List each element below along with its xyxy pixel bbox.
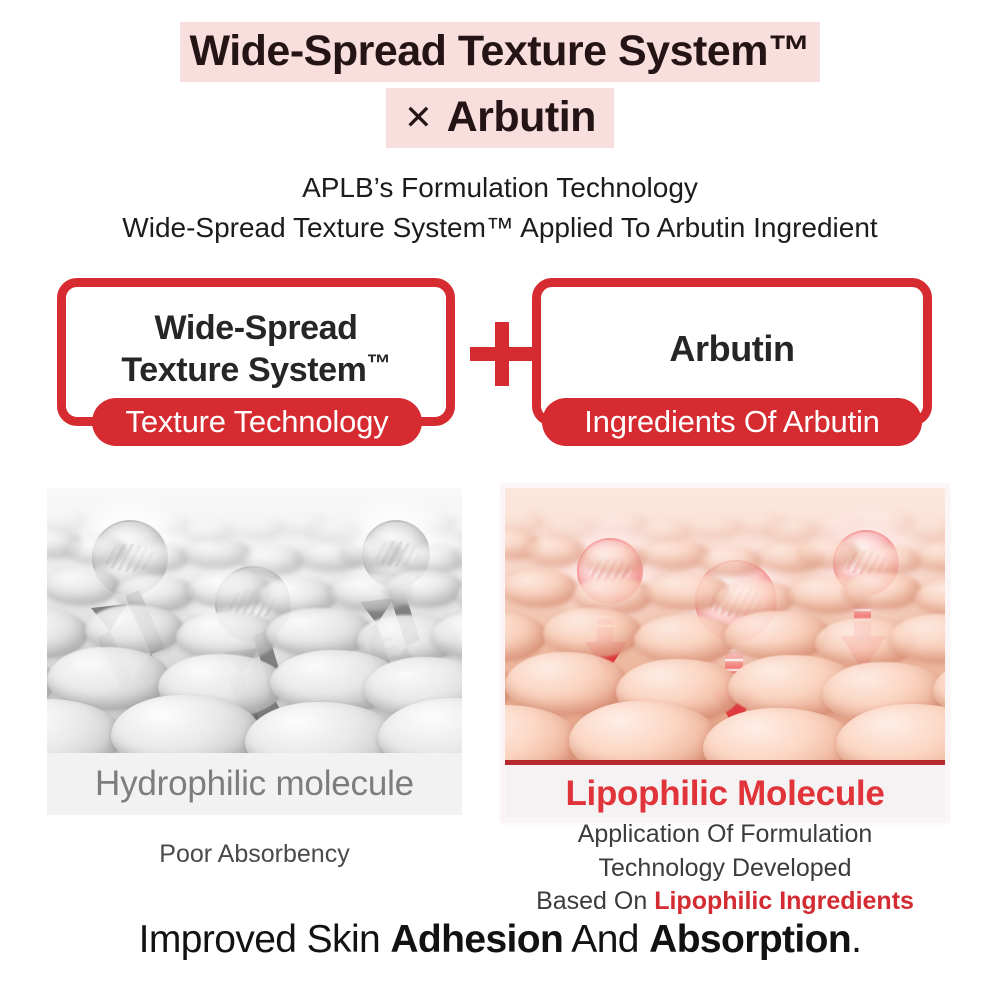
page-title-primary: Wide-Spread Texture System™ [180,22,821,82]
footer-part-3: . [851,918,861,961]
panel-lipophilic-caption: Lipophilic Molecule [505,760,945,818]
skin-cell [543,608,641,657]
title-block: Wide-Spread Texture System™ ✕Arbutin [0,22,1000,148]
panel-hydrophilic-frame: Hydrophilic molecule [47,488,462,815]
panel-lipophilic-note-line3: Based On Lipophilic Ingredients [505,885,945,919]
skin-cell [856,546,922,575]
skin-cell [47,568,119,605]
badge-arbutin-title: Arbutin [541,327,923,372]
panel-lipophilic-note: Application Of Formulation Technology De… [505,818,945,919]
footer-bold-absorption: Absorption [649,918,851,961]
badge-texture-system-title-line2: Texture System™ [66,349,446,391]
skin-cell [634,615,736,664]
scene-hydrophilic-illustration [47,488,462,753]
panel-lipophilic-note-line1: Application Of Formulation [505,818,945,852]
subtitle-block: APLB’s Formulation Technology Wide-Sprea… [0,168,1000,248]
footer-bold-adhesion: Adhesion [390,918,563,961]
skin-cell [724,611,830,660]
badge-texture-system-title: Wide-Spread Texture System™ [66,307,446,391]
skin-cell [525,537,585,566]
panel-lipophilic-frame: Lipophilic Molecule [505,488,945,818]
skin-cell [67,536,127,565]
page-title-secondary: ✕Arbutin [386,88,614,148]
skin-cell [688,516,743,539]
skin-cell [125,543,189,572]
skin-cell [505,570,577,607]
title-line-2-row: ✕Arbutin [0,88,1000,148]
subtitle-line-2: Wide-Spread Texture System™ Applied To A… [0,208,1000,248]
skin-cell-field-pink [505,488,945,760]
panel-lipophilic: Lipophilic Molecule [505,488,945,818]
skin-cell [187,571,271,608]
panel-hydrophilic-note: Poor Absorbency [47,838,462,871]
panel-hydrophilic-caption: Hydrophilic molecule [47,753,462,815]
footer-tagline: Improved Skin Adhesion And Absorption. [0,918,1000,962]
skin-cell [308,519,362,542]
skin-cell [230,516,285,539]
lipophilic-highlight: Lipophilic Ingredients [654,887,914,915]
footer-part-2: And [563,918,649,961]
multiply-icon: ✕ [404,99,447,137]
skin-cell [798,539,860,568]
badge-row: Wide-Spread Texture System™ Texture Tech… [0,278,1000,464]
skin-cell [645,573,729,610]
plus-icon [470,322,534,386]
trademark-icon: ™ [367,351,391,378]
skin-cell [843,572,921,609]
badge-texture-system-pill: Texture Technology [92,398,422,446]
skin-cell [385,570,462,607]
panel-hydrophilic: Hydrophilic molecule [47,488,462,815]
skin-cell [583,544,647,573]
scene-lipophilic-illustration [505,488,945,760]
subtitle-line-1: APLB’s Formulation Technology [0,168,1000,208]
skin-cell [340,538,402,567]
badge-arbutin-pill: Ingredients Of Arbutin [542,398,922,446]
skin-cell [914,542,945,571]
skin-cell [766,519,820,542]
title-line-1-row: Wide-Spread Texture System™ [0,22,1000,82]
skin-cell [909,518,945,541]
panel-lipophilic-note-line2: Technology Developed [505,852,945,886]
footer-part-1: Improved Skin [139,918,391,961]
skin-cell [241,546,304,575]
skin-cell [699,547,762,576]
title-ingredient-word: Arbutin [447,93,596,141]
badge-texture-system-title-line1: Wide-Spread [66,307,446,349]
